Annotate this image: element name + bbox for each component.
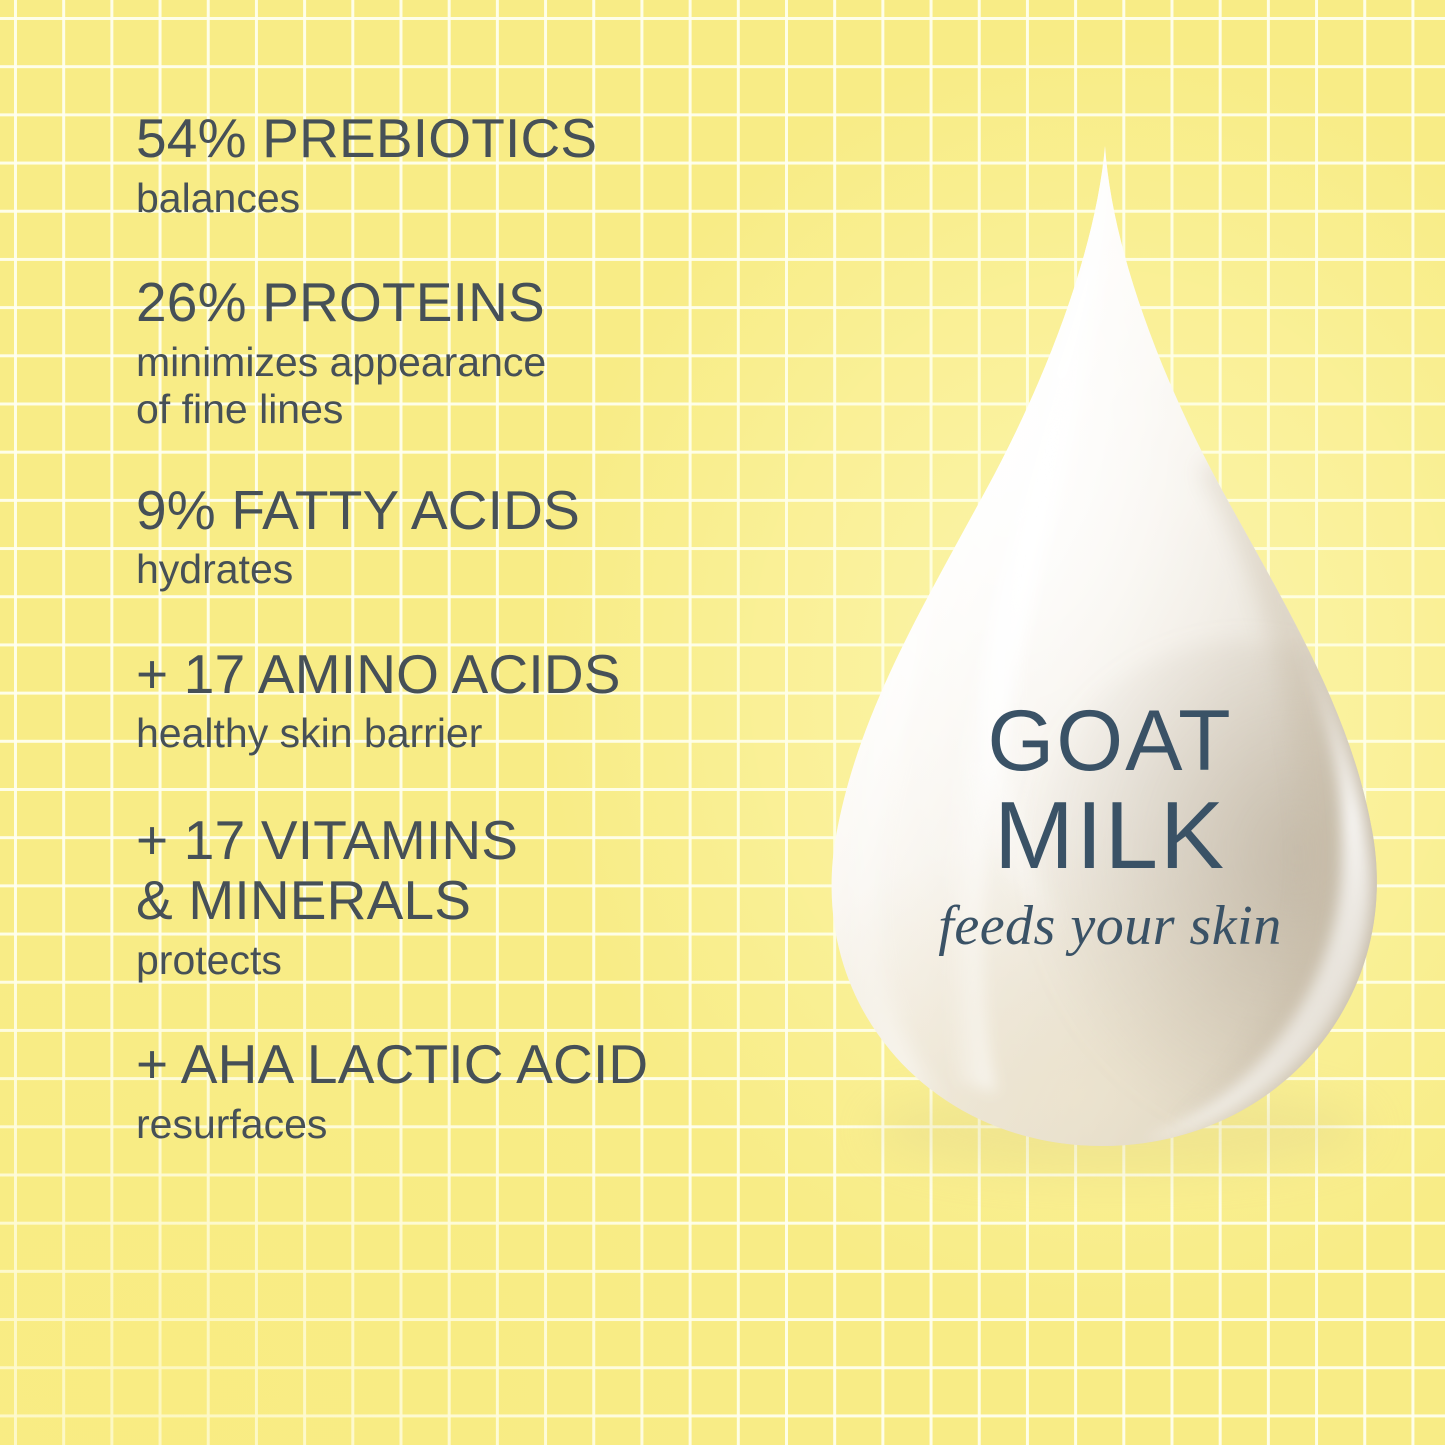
product-infographic: 54% PREBIOTICS balances 26% PROTEINS min… — [0, 0, 1445, 1445]
ingredient-benefit: healthy skin barrier — [136, 710, 816, 758]
ingredient-item: 9% FATTY ACIDS hydrates — [136, 480, 816, 594]
ingredient-heading: 26% PROTEINS — [136, 272, 816, 333]
ingredient-heading: + 17 VITAMINS & MINERALS — [136, 810, 816, 931]
ingredient-item: 54% PREBIOTICS balances — [136, 108, 816, 222]
ingredient-heading: + 17 AMINO ACIDS — [136, 644, 816, 705]
milk-droplet-illustration — [790, 130, 1430, 1170]
droplet-shading — [790, 130, 1445, 1170]
ingredient-heading: 9% FATTY ACIDS — [136, 480, 816, 541]
ingredient-benefit: hydrates — [136, 546, 816, 594]
ingredient-item: 26% PROTEINS minimizes appearance of fin… — [136, 272, 816, 434]
droplet-svg — [790, 130, 1430, 1170]
ingredient-item: + AHA LACTIC ACID resurfaces — [136, 1034, 816, 1148]
ingredient-item: + 17 VITAMINS & MINERALS protects — [136, 810, 816, 985]
ingredient-benefit: resurfaces — [136, 1101, 816, 1149]
ingredient-heading: + AHA LACTIC ACID — [136, 1034, 816, 1095]
ingredient-benefit: minimizes appearance of fine lines — [136, 339, 816, 434]
ingredient-list: 54% PREBIOTICS balances 26% PROTEINS min… — [136, 108, 816, 1148]
ingredient-item: + 17 AMINO ACIDS healthy skin barrier — [136, 644, 816, 758]
ingredient-heading: 54% PREBIOTICS — [136, 108, 816, 169]
ingredient-benefit: protects — [136, 937, 816, 985]
ingredient-benefit: balances — [136, 175, 816, 223]
